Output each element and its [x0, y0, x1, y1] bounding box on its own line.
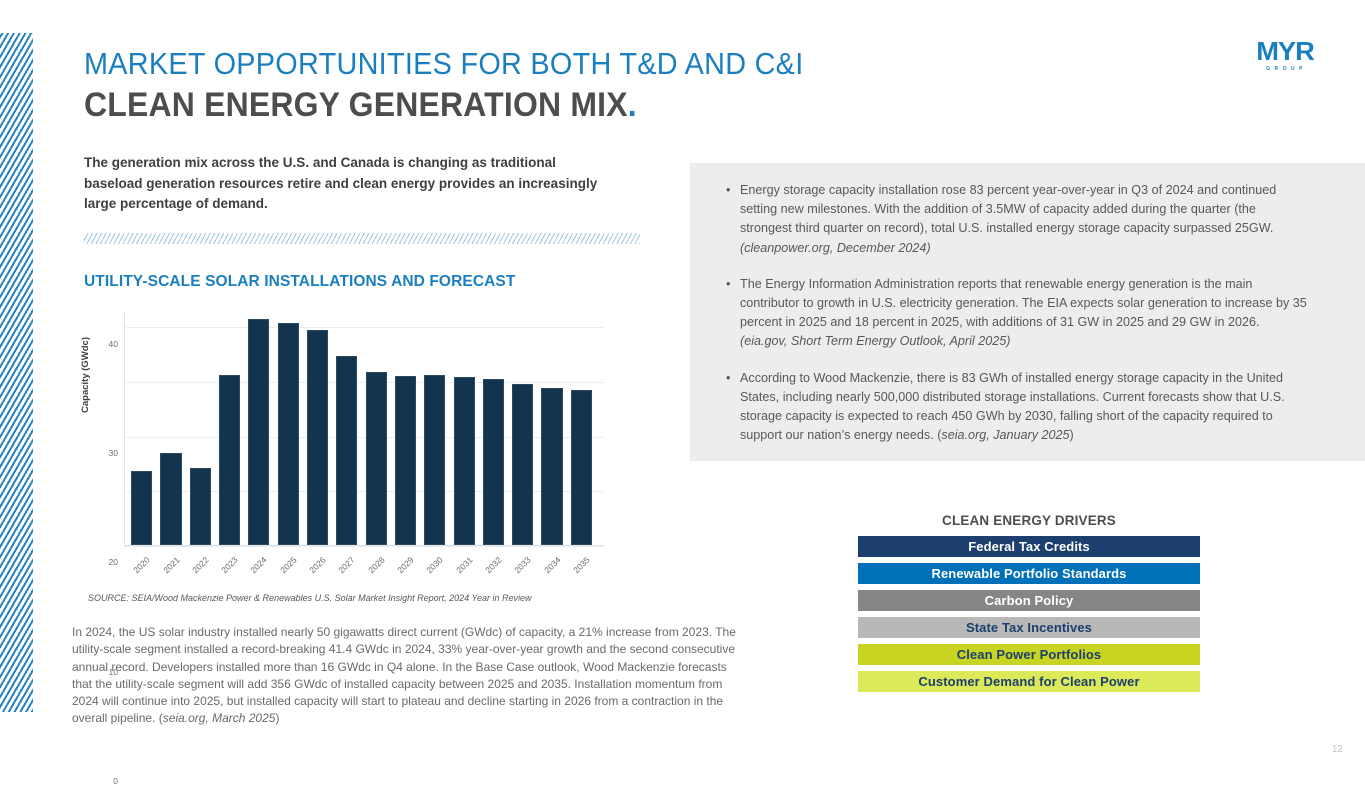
bar-slot	[508, 311, 537, 545]
bar-slot	[186, 311, 215, 545]
x-label-slot: 2025	[274, 553, 303, 570]
driver-row: Renewable Portfolio Standards	[858, 563, 1200, 584]
chart-source-note: SOURCE: SEIA/Wood Mackenzie Power & Rene…	[88, 593, 532, 603]
chart-bar	[571, 390, 592, 545]
intro-paragraph: The generation mix across the U.S. and C…	[84, 153, 614, 215]
bar-slot	[332, 311, 361, 545]
insights-bullet-list: •Energy storage capacity installation ro…	[690, 163, 1365, 445]
chart-bar	[278, 323, 299, 545]
x-label-slot: 2022	[186, 553, 215, 570]
title-period: .	[628, 86, 637, 124]
y-tick-label: 40	[109, 339, 118, 349]
page-number: 12	[1332, 744, 1343, 755]
driver-row: State Tax Incentives	[858, 617, 1200, 638]
chart-title: UTILITY-SCALE SOLAR INSTALLATIONS AND FO…	[84, 273, 515, 291]
x-tick-label: 2027	[337, 555, 357, 575]
bar-slot	[362, 311, 391, 545]
chart-bar	[248, 319, 269, 545]
chart-bar	[483, 379, 504, 545]
x-tick-label: 2035	[571, 555, 591, 575]
x-tick-label: 2024	[249, 555, 269, 575]
x-tick-label: 2022	[190, 555, 210, 575]
drivers-list: Federal Tax CreditsRenewable Portfolio S…	[858, 536, 1200, 692]
clean-energy-drivers: CLEAN ENERGY DRIVERS Federal Tax Credits…	[858, 512, 1200, 698]
bullet-icon: •	[726, 181, 730, 200]
x-tick-label: 2028	[366, 555, 386, 575]
x-tick-label: 2033	[512, 555, 532, 575]
myr-group-logo: MYR GROUP	[1250, 38, 1320, 72]
chart-bar	[219, 375, 240, 545]
x-label-slot: 2028	[362, 553, 391, 570]
x-label-slot: 2033	[508, 553, 537, 570]
insight-bullet-tail: )	[1070, 428, 1074, 442]
bullet-icon: •	[726, 369, 730, 388]
bullet-icon: •	[726, 275, 730, 294]
chart-bar	[541, 388, 562, 545]
chart-bar	[160, 453, 181, 545]
x-label-slot: 2031	[449, 553, 478, 570]
y-tick-label: 30	[109, 448, 118, 458]
x-label-slot: 2030	[420, 553, 449, 570]
driver-row: Federal Tax Credits	[858, 536, 1200, 557]
slide-kicker: MARKET OPPORTUNITIES FOR BOTH T&D AND C&…	[84, 48, 803, 79]
x-tick-label: 2030	[425, 555, 445, 575]
insight-bullet-item: •According to Wood Mackenzie, there is 8…	[726, 369, 1307, 446]
bar-slot	[537, 311, 566, 545]
insight-bullet-source: (eia.gov, Short Term Energy Outlook, Apr…	[740, 334, 1010, 348]
body-paragraph-source: seia.org, March 2025	[163, 711, 276, 725]
chart-bar	[424, 375, 445, 546]
y-axis-label: Capacity (GWdc)	[80, 337, 91, 413]
bar-slot	[215, 311, 244, 545]
insight-bullet-item: •Energy storage capacity installation ro…	[726, 181, 1307, 258]
insights-callout-panel: •Energy storage capacity installation ro…	[690, 163, 1365, 461]
chart-bar	[336, 356, 357, 545]
chart-bar	[512, 384, 533, 545]
x-label-slot: 2027	[332, 553, 361, 570]
x-tick-label: 2025	[278, 555, 298, 575]
x-label-slot: 2023	[215, 553, 244, 570]
insight-bullet-item: •The Energy Information Administration r…	[726, 275, 1307, 352]
gridline: 0	[124, 546, 604, 547]
logo-subtext: GROUP	[1253, 66, 1320, 72]
chart-bar	[454, 377, 475, 545]
page-title-text: CLEAN ENERGY GENERATION MIX	[84, 86, 628, 124]
x-label-slot: 2020	[127, 553, 156, 570]
bar-slot	[156, 311, 185, 545]
x-tick-label: 2029	[395, 555, 415, 575]
driver-row: Clean Power Portfolios	[858, 644, 1200, 665]
bar-slot	[303, 311, 332, 545]
bar-slot	[567, 311, 596, 545]
y-tick-label: 20	[109, 557, 118, 567]
x-label-slot: 2024	[244, 553, 273, 570]
insight-bullet-text: The Energy Information Administration re…	[740, 277, 1307, 329]
bar-slot	[391, 311, 420, 545]
chart-bar	[307, 330, 328, 545]
x-tick-label: 2031	[454, 555, 474, 575]
bar-slot	[127, 311, 156, 545]
y-tick-label: 0	[113, 776, 118, 786]
chart-bar	[395, 376, 416, 545]
insight-bullet-source: (cleanpower.org, December 2024)	[740, 241, 931, 255]
insight-bullet-source: seia.org, January 2025	[941, 428, 1069, 442]
x-tick-label: 2020	[131, 555, 151, 575]
left-stripe-decoration	[0, 33, 33, 712]
y-axis-line	[124, 311, 125, 546]
chart-bars	[127, 311, 596, 545]
x-label-slot: 2034	[537, 553, 566, 570]
x-label-slot: 2026	[303, 553, 332, 570]
x-tick-label: 2023	[219, 555, 239, 575]
bar-slot	[244, 311, 273, 545]
logo-wordmark: MYR	[1248, 38, 1322, 64]
drivers-title: CLEAN ENERGY DRIVERS	[865, 512, 1193, 528]
x-tick-label: 2021	[161, 555, 181, 575]
hatched-divider	[84, 233, 640, 244]
x-tick-label: 2032	[483, 555, 503, 575]
x-label-slot: 2035	[567, 553, 596, 570]
chart-bar	[131, 471, 152, 545]
body-paragraph-end: )	[275, 711, 279, 725]
chart-plot-area: 010203040	[124, 311, 604, 546]
x-tick-label: 2034	[542, 555, 562, 575]
insight-bullet-text: Energy storage capacity installation ros…	[740, 183, 1276, 235]
page-title: CLEAN ENERGY GENERATION MIX.	[84, 88, 637, 122]
x-label-slot: 2021	[156, 553, 185, 570]
chart-bar	[366, 372, 387, 545]
chart-bar	[190, 468, 211, 545]
x-axis-tick-labels: 2020202120222023202420252026202720282029…	[127, 553, 596, 570]
x-label-slot: 2029	[391, 553, 420, 570]
driver-row: Carbon Policy	[858, 590, 1200, 611]
x-label-slot: 2032	[479, 553, 508, 570]
driver-row: Customer Demand for Clean Power	[858, 671, 1200, 692]
bar-slot	[420, 311, 449, 545]
bar-slot	[449, 311, 478, 545]
body-paragraph: In 2024, the US solar industry installed…	[72, 624, 744, 728]
x-tick-label: 2026	[307, 555, 327, 575]
bar-slot	[274, 311, 303, 545]
solar-installations-bar-chart: Capacity (GWdc) 010203040 20202021202220…	[84, 305, 604, 570]
bar-slot	[479, 311, 508, 545]
